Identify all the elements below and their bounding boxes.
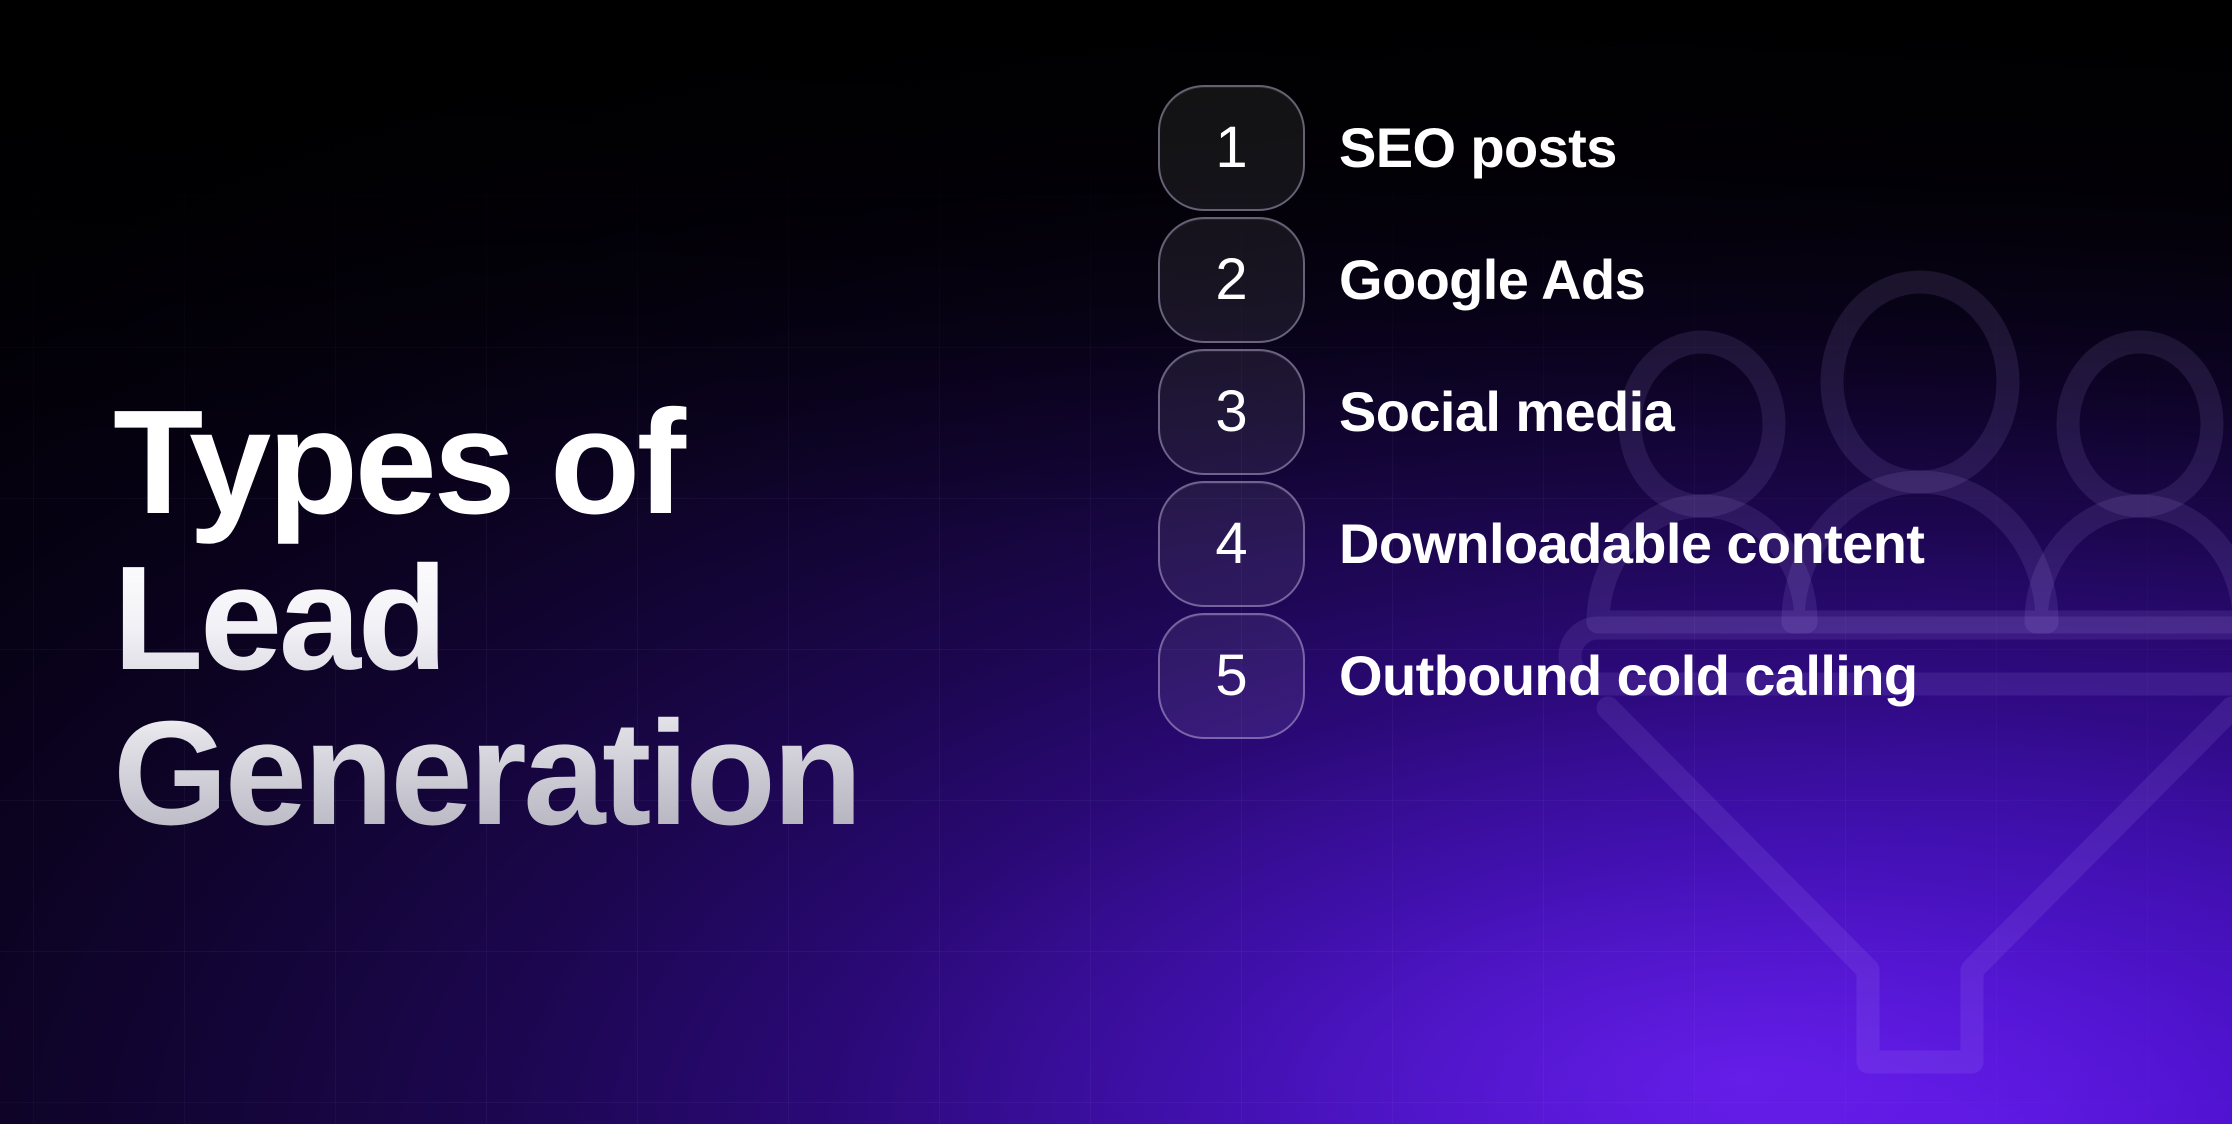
list-item-number-badge: 2 (1158, 217, 1305, 343)
list-item[interactable]: 5 Outbound cold calling (1158, 613, 2198, 739)
list-item[interactable]: 1 SEO posts (1158, 85, 2198, 211)
list-item-number: 2 (1215, 251, 1247, 309)
list-item[interactable]: 4 Downloadable content (1158, 481, 2198, 607)
list-item-number-badge: 4 (1158, 481, 1305, 607)
list-item-number: 4 (1215, 515, 1247, 573)
list-item-label: SEO posts (1339, 119, 1617, 178)
page-title: Types of Lead Generation (113, 385, 1073, 851)
list-item[interactable]: 2 Google Ads (1158, 217, 2198, 343)
lead-generation-type-list: 1 SEO posts 2 Google Ads 3 Social media … (1158, 85, 2198, 745)
list-item-label: Social media (1339, 383, 1674, 442)
slide-root: Types of Lead Generation 1 SEO posts 2 G… (0, 0, 2232, 1124)
list-item-number: 1 (1215, 119, 1247, 177)
list-item-number-badge: 1 (1158, 85, 1305, 211)
title-line-1: Types of (113, 385, 1073, 540)
list-item-number: 3 (1215, 383, 1247, 441)
title-line-2: Lead (113, 541, 1073, 696)
list-item-number-badge: 5 (1158, 613, 1305, 739)
list-item-label: Google Ads (1339, 251, 1645, 310)
list-item[interactable]: 3 Social media (1158, 349, 2198, 475)
title-line-3: Generation (113, 696, 1073, 851)
list-item-label: Outbound cold calling (1339, 647, 1917, 706)
list-item-number: 5 (1215, 647, 1247, 705)
list-item-label: Downloadable content (1339, 515, 1924, 574)
list-item-number-badge: 3 (1158, 349, 1305, 475)
